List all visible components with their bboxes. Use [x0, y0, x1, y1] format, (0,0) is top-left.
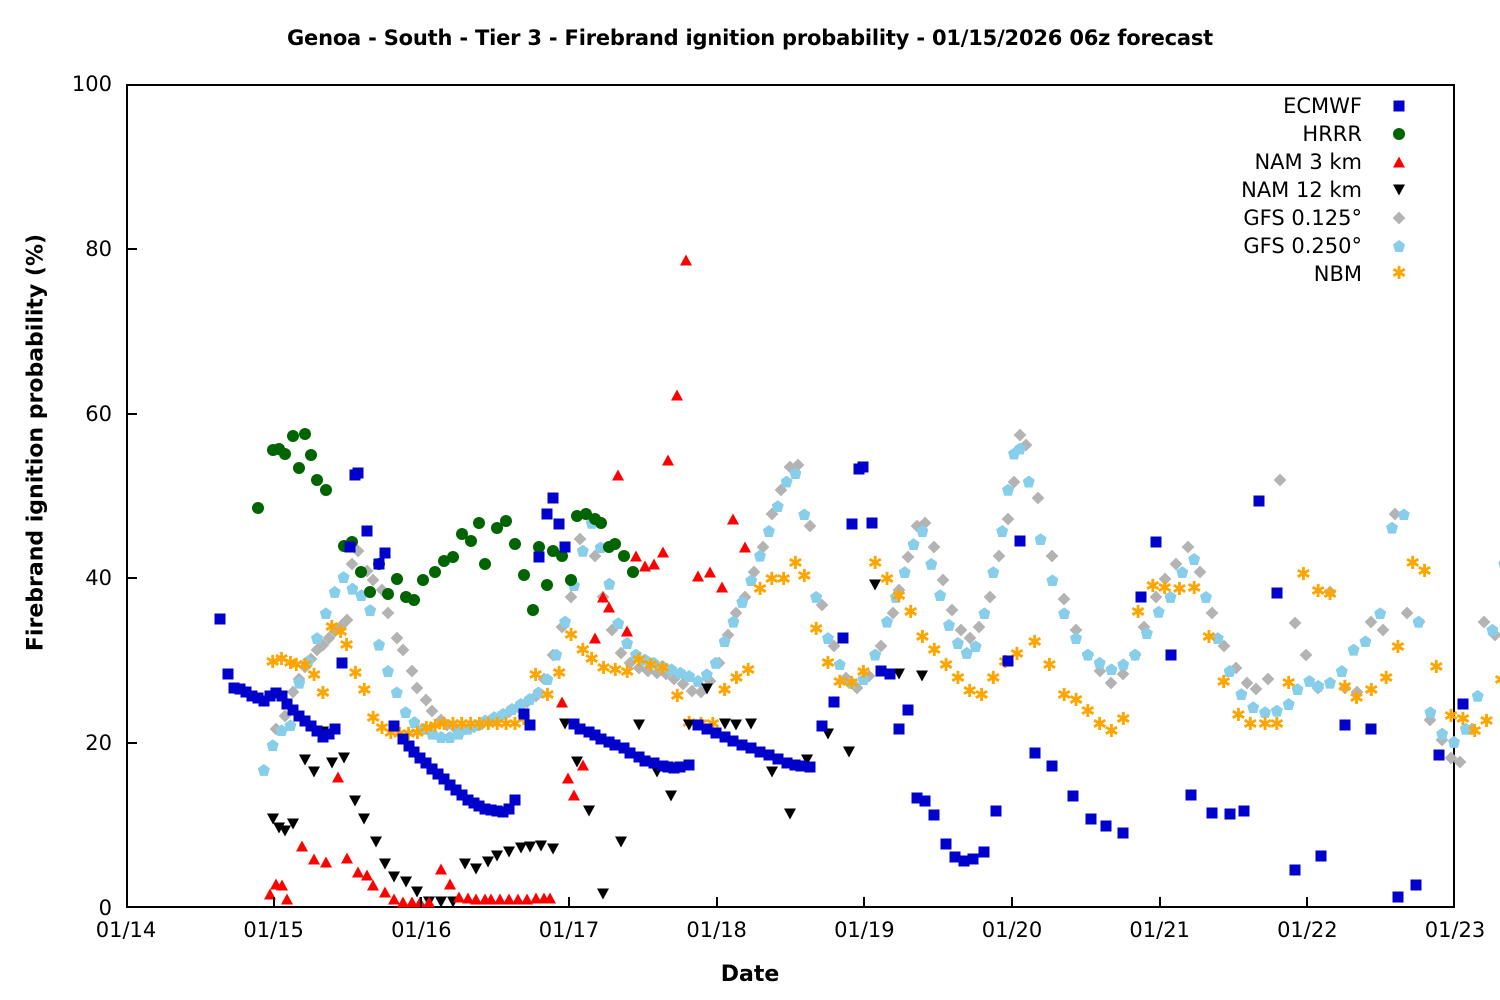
y-axis-label: Firebrand ignition probability (%)	[24, 43, 49, 843]
square-icon	[941, 839, 952, 850]
pentagon-icon	[1486, 624, 1498, 636]
x-axis-label: Date	[0, 962, 1500, 987]
asterisk-icon: ✱	[1479, 713, 1494, 731]
square-icon	[867, 517, 878, 528]
legend-item-marker	[1388, 151, 1410, 173]
square-icon	[1118, 827, 1129, 838]
asterisk-icon: ✱	[1494, 672, 1500, 690]
square-icon	[979, 847, 990, 858]
y-tick-label: 80	[0, 237, 112, 261]
square-icon	[214, 614, 225, 625]
x-tick-label: 01/19	[794, 918, 934, 942]
chart-title: Genoa - South - Tier 3 - Firebrand ignit…	[0, 26, 1500, 50]
legend-item-nbm[interactable]: NBM✱	[1090, 260, 1410, 288]
legend-item-marker	[1388, 179, 1410, 201]
diamond-icon	[1393, 212, 1406, 225]
square-icon	[1014, 535, 1025, 546]
y-tick-label: 0	[0, 896, 112, 920]
triangle-up-icon	[1393, 157, 1405, 168]
square-icon	[524, 719, 535, 730]
square-icon	[1457, 699, 1468, 710]
square-icon	[548, 493, 559, 504]
square-icon	[1366, 723, 1377, 734]
square-icon	[1029, 748, 1040, 759]
square-icon	[353, 468, 364, 479]
legend-item-hrrr[interactable]: HRRR	[1090, 120, 1410, 148]
chart-figure: Genoa - South - Tier 3 - Firebrand ignit…	[0, 0, 1500, 1000]
square-icon	[379, 548, 390, 559]
legend-item-marker	[1388, 207, 1410, 229]
square-icon	[1239, 806, 1250, 817]
square-icon	[884, 669, 895, 680]
square-icon	[388, 721, 399, 732]
legend-item-label: NAM 3 km	[1254, 150, 1388, 174]
legend-item-gfs-0-250[interactable]: GFS 0.250°	[1090, 232, 1410, 260]
legend-item-marker: ✱	[1388, 263, 1410, 285]
square-icon	[1100, 820, 1111, 831]
x-tick-label: 01/15	[204, 918, 344, 942]
square-icon	[1339, 719, 1350, 730]
square-icon	[1165, 649, 1176, 660]
square-icon	[223, 669, 234, 680]
square-icon	[554, 519, 565, 530]
legend-item-label: NBM	[1314, 262, 1388, 286]
square-icon	[344, 542, 355, 553]
square-icon	[329, 723, 340, 734]
square-icon	[893, 723, 904, 734]
x-tick-mark	[716, 897, 718, 908]
triangle-down-icon	[1393, 185, 1405, 196]
y-tick-label: 60	[0, 402, 112, 426]
square-icon	[1047, 760, 1058, 771]
square-icon	[1316, 851, 1327, 862]
x-tick-mark	[420, 897, 422, 908]
square-icon	[929, 810, 940, 821]
square-icon	[684, 759, 695, 770]
legend-item-marker	[1388, 95, 1410, 117]
x-tick-label: 01/14	[56, 918, 196, 942]
circle-icon	[1393, 128, 1405, 140]
square-icon	[1410, 880, 1421, 891]
square-icon	[1135, 591, 1146, 602]
legend-item-nam-12-km[interactable]: NAM 12 km	[1090, 176, 1410, 204]
square-icon	[560, 542, 571, 553]
square-icon	[1394, 101, 1405, 112]
square-icon	[1150, 537, 1161, 548]
square-icon	[1392, 891, 1403, 902]
y-tick-label: 20	[0, 731, 112, 755]
square-icon	[518, 708, 529, 719]
x-tick-mark	[863, 897, 865, 908]
legend-item-gfs-0-125[interactable]: GFS 0.125°	[1090, 204, 1410, 232]
legend-item-label: ECMWF	[1283, 94, 1388, 118]
square-icon	[846, 519, 857, 530]
x-tick-label: 01/21	[1090, 918, 1230, 942]
square-icon	[1434, 750, 1445, 761]
legend-item-label: GFS 0.250°	[1243, 234, 1388, 258]
square-icon	[902, 704, 913, 715]
x-tick-mark	[273, 897, 275, 908]
square-icon	[828, 697, 839, 708]
legend-item-label: GFS 0.125°	[1243, 206, 1388, 230]
x-tick-label: 01/23	[1385, 918, 1500, 942]
asterisk-icon: ✱	[1391, 265, 1406, 283]
chart-legend: ECMWFHRRRNAM 3 kmNAM 12 kmGFS 0.125°GFS …	[1090, 92, 1410, 288]
square-icon	[858, 461, 869, 472]
square-icon	[967, 853, 978, 864]
y-tick-mark	[126, 248, 137, 250]
square-icon	[1254, 496, 1265, 507]
square-icon	[920, 796, 931, 807]
square-icon	[374, 558, 385, 569]
square-icon	[1068, 791, 1079, 802]
square-icon	[509, 795, 520, 806]
diamond-icon	[1477, 615, 1490, 628]
square-icon	[817, 721, 828, 732]
y-tick-label: 100	[0, 72, 112, 96]
square-icon	[837, 633, 848, 644]
x-tick-mark	[1011, 897, 1013, 908]
x-tick-label: 01/18	[647, 918, 787, 942]
y-tick-mark	[126, 577, 137, 579]
x-tick-label: 01/17	[499, 918, 639, 942]
square-icon	[1271, 587, 1282, 598]
square-icon	[1289, 865, 1300, 876]
square-icon	[337, 657, 348, 668]
x-tick-mark	[1159, 897, 1161, 908]
legend-item-nam-3-km[interactable]: NAM 3 km	[1090, 148, 1410, 176]
x-tick-mark	[568, 897, 570, 908]
x-tick-mark	[1306, 897, 1308, 908]
legend-item-marker	[1388, 123, 1410, 145]
square-icon	[1085, 814, 1096, 825]
square-icon	[1224, 809, 1235, 820]
x-tick-label: 01/16	[351, 918, 491, 942]
y-tick-mark	[126, 413, 137, 415]
square-icon	[991, 806, 1002, 817]
square-icon	[362, 525, 373, 536]
square-icon	[1206, 807, 1217, 818]
square-icon	[1186, 789, 1197, 800]
y-tick-label: 40	[0, 566, 112, 590]
square-icon	[533, 552, 544, 563]
y-tick-mark	[126, 742, 137, 744]
legend-item-ecmwf[interactable]: ECMWF	[1090, 92, 1410, 120]
legend-item-label: HRRR	[1302, 122, 1388, 146]
x-tick-label: 01/22	[1237, 918, 1377, 942]
legend-item-marker	[1388, 235, 1410, 257]
pentagon-icon	[1393, 240, 1405, 252]
pentagon-icon	[1472, 690, 1484, 702]
square-icon	[542, 509, 553, 520]
square-icon	[1003, 656, 1014, 667]
square-icon	[805, 761, 816, 772]
x-tick-label: 01/20	[942, 918, 1082, 942]
legend-item-label: NAM 12 km	[1241, 178, 1388, 202]
